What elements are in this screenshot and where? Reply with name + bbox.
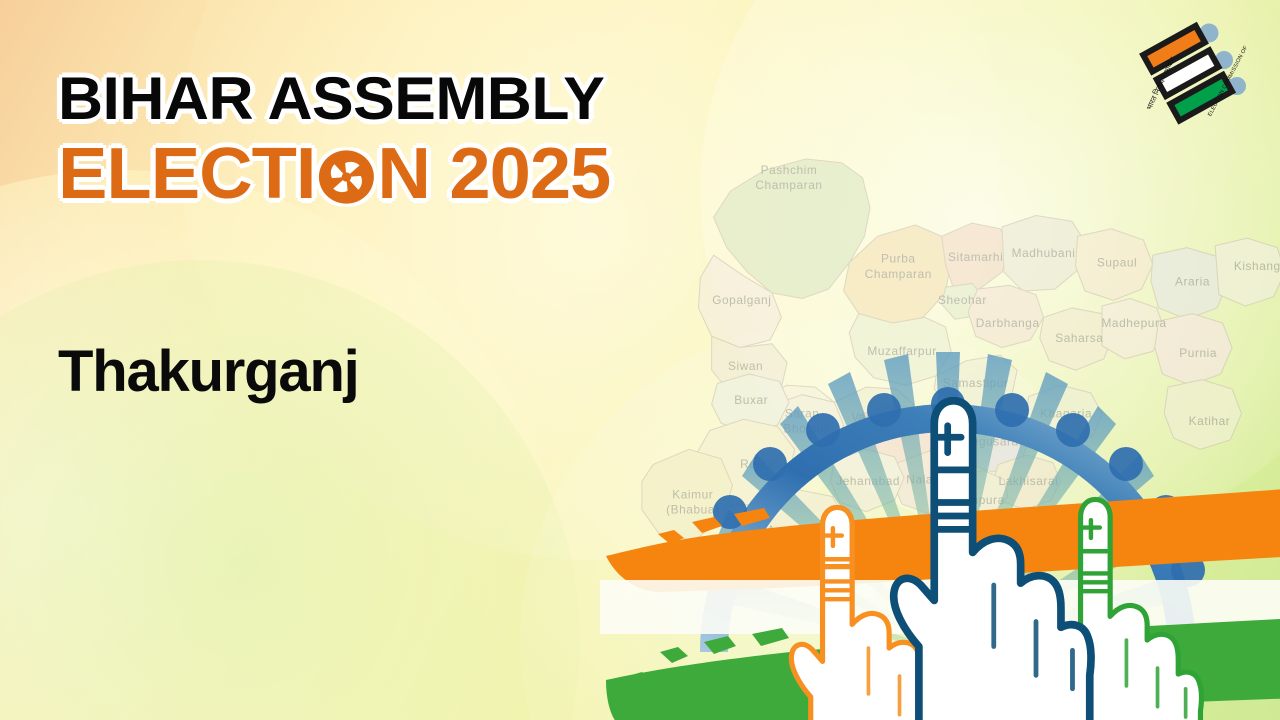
district-label: Champaran	[755, 178, 822, 192]
election-banner: Pashchim Champaran Purba Champaran Gopal…	[0, 0, 1280, 720]
headline-line-2: ELECTI N 2025	[58, 136, 738, 212]
voter-hand-center	[894, 401, 1091, 720]
election-commission-of-india-logo: भारत निर्वाचन आयोग ELECTION COMMISSION O…	[1136, 14, 1262, 132]
headline-block: BIHAR ASSEMBLY ELECTI N 2025	[58, 68, 718, 212]
logo-bars	[1143, 26, 1232, 121]
constituency-name: Thakurganj	[58, 340, 359, 404]
district-label: Pashchim	[761, 163, 818, 177]
headline-line-2-before: ELECTI	[58, 136, 316, 212]
ballot-cross-icon	[317, 148, 377, 206]
headline-line-2-after: N 2025	[377, 136, 610, 212]
voter-hands-group	[780, 395, 1220, 720]
headline-line-1: BIHAR ASSEMBLY	[58, 68, 744, 130]
